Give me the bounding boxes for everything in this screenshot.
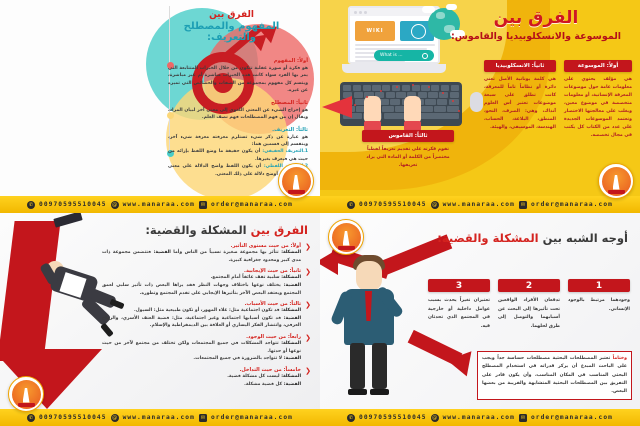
footer-phone[interactable]: 00970595510045 [39, 201, 107, 208]
chevron-left-icon: ❮ [305, 334, 311, 342]
term-text: يختلف نوعها باختلاف وجهات النظر فقد يراه… [102, 283, 301, 296]
difference-section-2: ❮ ثانياً: من حيث الإيجابية. المشكلة: سلب… [102, 268, 310, 297]
section-text-line-2: القضية: يختلف نوعها باختلاف وجهات النظر … [102, 282, 301, 297]
footer-bar: ✆ 00970595510045 @ www.manaraa.com ✉ ord… [0, 409, 320, 426]
term-text: ليست كل مشكلة قضية. [227, 374, 281, 379]
term-label: القضية: [284, 316, 301, 321]
graduation-cap-icon [52, 215, 82, 229]
difference-section-3: ❮ ثالثاً: من حيث الأسباب. المشكلة: قد تك… [102, 301, 310, 330]
term-label: القضية: [154, 250, 171, 255]
title-red-part: الفرق بين [251, 223, 308, 237]
card-number: 2 [498, 279, 560, 292]
similarity-card-2: 2 تدفعان الأفراد الواقعين تحت تأثيرها إل… [498, 279, 560, 332]
dotted-path [348, 74, 478, 122]
term-label: المشكلة: [281, 374, 301, 379]
title-dark-part: أوجه الشبه بين [543, 231, 628, 245]
section-heading: ثانياً: المصطلح [168, 100, 308, 106]
panel-title-concept: الفرق بين المفهوم والمصطلح والتعريف: [159, 10, 304, 43]
chevron-left-icon: ❮ [305, 367, 311, 375]
footer-phone[interactable]: 00970595510045 [359, 414, 427, 421]
footer-website[interactable]: www.manaraa.com [123, 414, 195, 421]
panel-title-differences: الفرق بين المشكلة والقضية: [145, 223, 308, 237]
panel-encyclopedia: WIKI What is ... [320, 0, 640, 213]
manaraa-lighthouse-logo [328, 219, 364, 255]
title-line-2: المفهوم والمصطلح والتعريف: [159, 21, 304, 43]
manaraa-lighthouse-logo [278, 163, 314, 199]
card-number: 3 [428, 279, 490, 292]
footer-phone[interactable]: 00970595510045 [39, 414, 107, 421]
term-label: المشكلة: [281, 308, 301, 313]
card-text: تعتبران تغيراً يحدث بسبب عوامل داخلية أو… [428, 292, 490, 332]
section-text: تقوم فكرته على تقديم تعريفاً لفظياً مختص… [362, 142, 454, 170]
section-text-line-1: المشكلة: قد تكون اجتماعية مثل: غلاء المه… [102, 307, 301, 315]
globe-icon: @ [111, 414, 119, 422]
term-text: قد تكون أسبابها اجتماعية وغير اجتماعية، … [102, 316, 301, 329]
card-text: تدفعان الأفراد الواقعين تحت تأثيرها إلى … [498, 292, 560, 332]
infographic-sheet: WIKI What is ... [0, 0, 640, 426]
section-text: هي كلمة يونانية الأصل تعني دائرة أو نظام… [484, 72, 556, 132]
term-text: قد تكون اجتماعية مثل: غلاء المهور، أو تك… [134, 308, 281, 313]
panel-concept: الفرق بين المفهوم والمصطلح والتعريف: أول… [0, 0, 320, 213]
mail-icon: ✉ [519, 414, 527, 422]
section-text: هو عبارة عن ذكر شيء تستلزم معرفته معرفة … [168, 134, 308, 149]
difference-section-4: ❮ رابعاً: من حيث الوجود. المشكلة: تتواجد… [102, 334, 310, 363]
panel-similarities: أوجه الشبه بين المشكلة والقضية: 1 وجودهم… [320, 213, 640, 426]
footer-email[interactable]: order@manaraa.com [531, 414, 613, 421]
term-label: المشكلة: [281, 250, 301, 255]
card-text: وجودهما مرتبط بالوجود الإنساني. [568, 292, 630, 314]
title-line-1: الفرق بين [159, 10, 304, 20]
chevron-left-icon: ❮ [305, 268, 311, 276]
section-encyclopedia-2: ثانياً: الانسكلوبيديا هي كلمة يونانية ال… [484, 60, 556, 132]
footer-bar: ✆ 00970595510045 @ www.manaraa.com ✉ ord… [0, 196, 320, 213]
chevron-left-icon: ❮ [305, 301, 311, 309]
section-heading: أولاً: المفهوم [168, 58, 308, 64]
manaraa-lighthouse-logo [8, 376, 44, 412]
term-text: لا تتواجد بالضرورة في جميع المجتمعات. [193, 356, 283, 361]
title-line-1: الفرق بين [446, 8, 626, 28]
term-text: كل قضية مشكلة. [244, 382, 284, 387]
footer-website[interactable]: www.manaraa.com [123, 201, 195, 208]
manaraa-lighthouse-logo [598, 163, 634, 199]
panel-differences: الفرق بين المشكلة والقضية: ❮ أولاً: من ح… [0, 213, 320, 426]
whatsapp-icon: ✆ [347, 414, 355, 422]
section-heading: ثالثاً: القاموس [362, 130, 454, 142]
similarity-card-3: 3 تعتبران تغيراً يحدث بسبب عوامل داخلية … [428, 279, 490, 332]
term-text: تتأثر بها مجموعة صغيرة نسبياً من الناس و… [171, 250, 281, 255]
item-label: 1.التعريف الحقيقي: [262, 149, 308, 154]
conclusion-text: وختاماً تعتبر المصطلحات البحثية مصطلحات … [482, 355, 627, 396]
chevron-left-icon: ❮ [305, 243, 311, 251]
section-concept-1: أولاً: المفهوم هو فكرة أو صورة عقلية تتك… [168, 58, 308, 95]
globe-icon: @ [431, 414, 439, 422]
title-red-part: المشكلة والقضية: [437, 231, 538, 245]
section-encyclopedia-1: أولاً: الموسوعة هي مؤلف يحتوي على معلوما… [564, 60, 632, 140]
term-label: القضية: [284, 283, 301, 288]
red-arrow-down-right [408, 341, 480, 383]
difference-section-1: ❮ أولاً: من حيث مستوى التأثير. المشكلة: … [102, 243, 310, 264]
similarity-card-1: 1 وجودهما مرتبط بالوجود الإنساني. [568, 279, 630, 314]
footer-email[interactable]: order@manaraa.com [211, 201, 293, 208]
section-text-line-2: القضية: قد تكون أسبابها اجتماعية وغير اج… [102, 315, 301, 330]
section-concept-2: ثانياً: المصطلح هو إخراج الشيء عن المعنى… [168, 100, 308, 122]
mail-icon: ✉ [199, 201, 207, 209]
whatsapp-icon: ✆ [347, 201, 355, 209]
section-heading: ثانياً: الانسكلوبيديا [484, 60, 556, 72]
footer-website[interactable]: www.manaraa.com [443, 201, 515, 208]
conclusion-body: تعتبر المصطلحات البحثية مصطلحات حساسة جد… [482, 356, 627, 394]
conclusion-lead: وختاماً [613, 356, 627, 361]
section-heading: ثالثاً: التعريف. [168, 127, 308, 133]
panel-title-similarities: أوجه الشبه بين المشكلة والقضية: [437, 231, 628, 245]
footer-website[interactable]: www.manaraa.com [443, 414, 515, 421]
section-text: المشكلة: تتأثر بها مجموعة صغيرة نسبياً م… [102, 249, 301, 264]
mail-icon: ✉ [199, 414, 207, 422]
section-text-line-2: القضية: كل قضية مشكلة. [102, 381, 301, 389]
term-label: القضية: [284, 356, 301, 361]
footer-bar: ✆ 00970595510045 @ www.manaraa.com ✉ ord… [320, 196, 640, 213]
footer-phone[interactable]: 00970595510045 [359, 201, 427, 208]
section-text: هو فكرة أو صورة عقلية تتكون من خلال الخب… [168, 65, 308, 95]
term-label: المشكلة: [281, 341, 301, 346]
globe-icon: @ [431, 201, 439, 209]
term-text: سلبية تقف عائقاً أمام المجتمع. [211, 275, 282, 280]
difference-section-5: ❮ خامساً: من حيث التداخل. المشكلة: ليست … [102, 367, 310, 388]
conclusion-note-box: وختاماً تعتبر المصطلحات البحثية مصطلحات … [477, 351, 632, 400]
search-input[interactable]: What is ... [374, 50, 434, 61]
wiki-logo-tile: WIKI [355, 21, 395, 41]
footer-email[interactable]: order@manaraa.com [211, 414, 293, 421]
term-text: تتواجد المشكلات في جميع المجتمعات ولكن ت… [102, 341, 301, 354]
section-text-line-1: المشكلة: سلبية تقف عائقاً أمام المجتمع. [102, 274, 301, 282]
section-text-line-2: القضية: لا تتواجد بالضرورة في جميع المجت… [102, 355, 301, 363]
laptop-base [342, 64, 446, 73]
worried-man-illustration [338, 255, 406, 395]
definition-item-1: 1.التعريف الحقيقي: أن يكون حقيقة ما وضع … [168, 148, 308, 163]
card-number: 1 [568, 279, 630, 292]
title-line-2: الموسوعة والانسكلوبيديا والقاموس: [446, 31, 626, 42]
term-label: المشكلة: [281, 275, 301, 280]
term-label: القضية: [284, 382, 301, 387]
section-text: هو إخراج الشيء عن المعنى اللغوي إلى معنى… [168, 107, 308, 122]
title-dark-part: المشكلة والقضية: [145, 223, 246, 237]
footer-bar: ✆ 00970595510045 @ www.manaraa.com ✉ ord… [320, 409, 640, 426]
whatsapp-icon: ✆ [27, 414, 35, 422]
section-text: هي مؤلف يحتوي على معلومات عامة حول موضوع… [564, 72, 632, 140]
panel-title-encyclopedia: الفرق بين الموسوعة والانسكلوبيديا والقام… [446, 8, 626, 42]
section-text-line-1: المشكلة: ليست كل مشكلة قضية. [102, 373, 301, 381]
mail-icon: ✉ [519, 201, 527, 209]
footer-email[interactable]: order@manaraa.com [531, 201, 613, 208]
section-text-line-1: المشكلة: تتواجد المشكلات في جميع المجتمع… [102, 340, 301, 355]
wiki-logo-text: WIKI [355, 21, 395, 41]
globe-icon: @ [111, 201, 119, 209]
difference-sections: ❮ أولاً: من حيث مستوى التأثير. المشكلة: … [102, 243, 310, 392]
section-heading: أولاً: الموسوعة [564, 60, 632, 72]
whatsapp-icon: ✆ [27, 201, 35, 209]
section-encyclopedia-3: ثالثاً: القاموس تقوم فكرته على تقديم تعر… [362, 130, 454, 170]
